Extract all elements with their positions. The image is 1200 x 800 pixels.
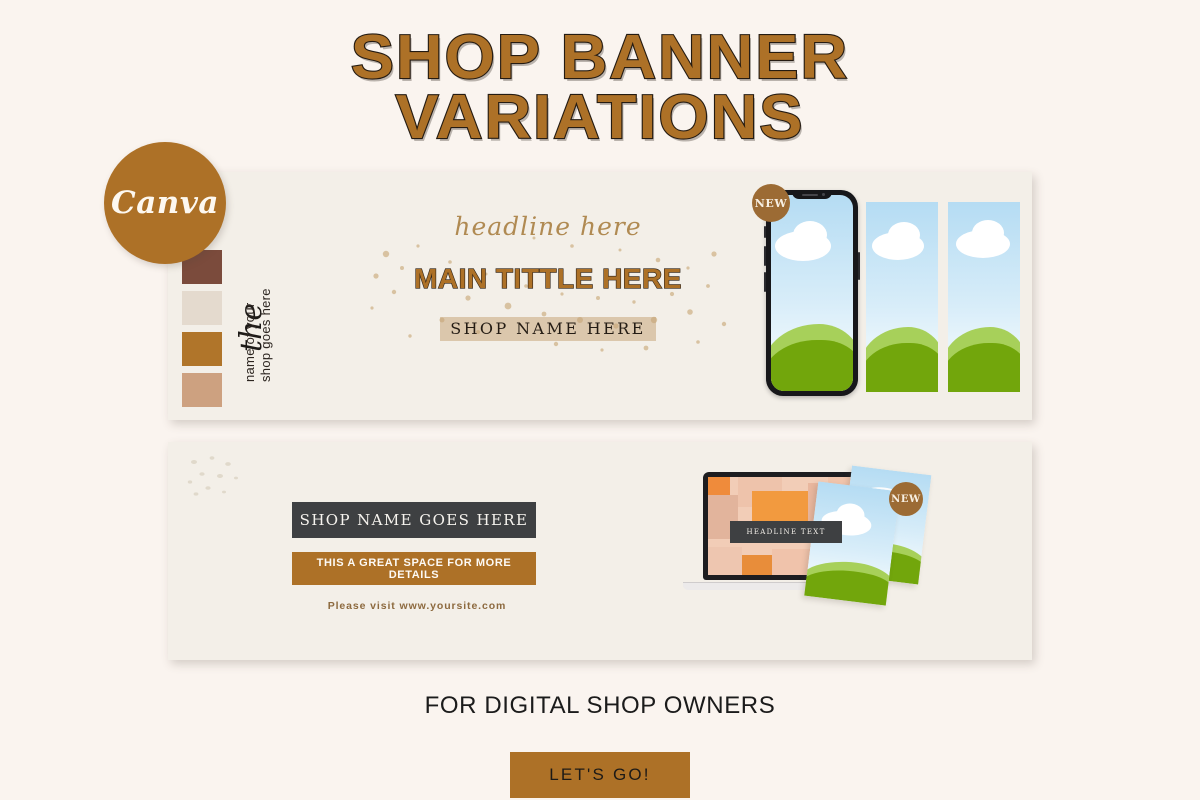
panel-three-hill-front <box>948 343 1020 392</box>
abstract-shape-8 <box>742 555 772 575</box>
poster-card-front <box>804 481 899 605</box>
canva-badge-label: Canva <box>111 185 219 221</box>
title-line-1: SHOP BANNER <box>0 28 1200 88</box>
phone-speaker <box>802 194 818 196</box>
phone-camera <box>822 193 825 196</box>
speckle-decoration <box>182 452 272 502</box>
new-badge: NEW <box>752 184 790 222</box>
canva-badge[interactable]: Canva <box>104 142 226 264</box>
panel-three-cloud-puff <box>972 220 1004 246</box>
banner-variation-one[interactable]: the name of your shop goes here headline… <box>168 172 1032 420</box>
title-line-2: VARIATIONS <box>0 88 1200 148</box>
headline-script-text: headline here <box>358 212 738 241</box>
device-mockup-group: NEW <box>756 190 1032 402</box>
footer-tagline: FOR DIGITAL SHOP OWNERS <box>0 692 1200 720</box>
phone-volume-up <box>764 246 766 266</box>
abstract-shape-1 <box>708 477 730 495</box>
shop-name-highlight: SHOP NAME HERE <box>440 317 656 341</box>
laptop-mockup-group: HEADLINE TEXT NEW <box>693 464 993 639</box>
rotated-shop-name: the name of your shop goes here <box>228 234 378 384</box>
details-button[interactable]: THIS A GREAT SPACE FOR MORE DETAILS <box>292 552 536 585</box>
main-title-text: MAIN TITTLE HERE <box>358 263 738 295</box>
new-badge: NEW <box>889 482 923 516</box>
rotated-line-b: shop goes here <box>258 288 273 382</box>
laptop-headline-bar: HEADLINE TEXT <box>730 521 842 543</box>
shop-name-text: SHOP NAME HERE <box>450 319 646 338</box>
panel-two-hill-front <box>866 343 938 392</box>
rotated-line-a: name of your <box>242 303 257 382</box>
lets-go-button[interactable]: LET'S GO! <box>510 752 690 798</box>
visit-website-text: Please visit www.yoursite.com <box>292 600 542 612</box>
phone-volume-down <box>764 272 766 292</box>
panel-two-cloud-puff <box>888 222 920 248</box>
abstract-shape-4 <box>752 491 810 521</box>
laptop-headline-text: HEADLINE TEXT <box>746 528 825 536</box>
swatch-golden-brown <box>182 332 222 366</box>
page-title: SHOP BANNER VARIATIONS <box>0 28 1200 147</box>
banner-variation-two[interactable]: SHOP NAME GOES HERE THIS A GREAT SPACE F… <box>168 442 1032 660</box>
phone-power-button <box>858 252 860 280</box>
shop-name-button[interactable]: SHOP NAME GOES HERE <box>292 502 536 538</box>
cta-zone: SHOP NAME GOES HERE THIS A GREAT SPACE F… <box>292 502 542 612</box>
abstract-shape-7 <box>708 547 742 575</box>
color-swatch-strip <box>182 250 222 414</box>
phone-hill-front <box>771 340 853 391</box>
phone-notch <box>792 190 832 199</box>
headline-zone: headline here MAIN TITTLE HERE SHOP NAME… <box>358 202 738 372</box>
sky-panel-two <box>866 202 938 392</box>
swatch-cream <box>182 291 222 325</box>
phone-mockup <box>766 190 858 396</box>
phone-screen <box>771 195 853 391</box>
phone-silent-switch <box>764 226 766 238</box>
phone-cloud-puff <box>793 221 827 249</box>
swatch-tan <box>182 373 222 407</box>
sky-panel-three <box>948 202 1020 392</box>
